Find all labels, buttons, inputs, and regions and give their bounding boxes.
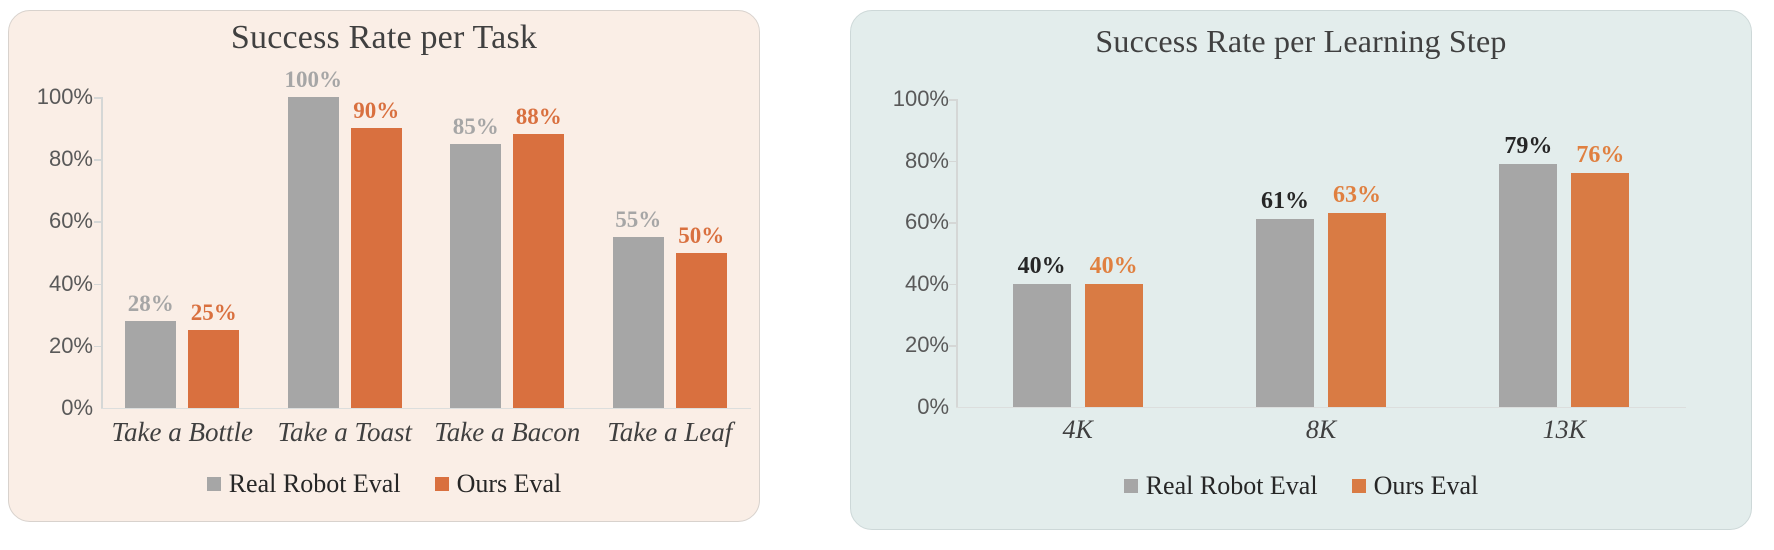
legend-label: Real Robot Eval: [229, 469, 401, 499]
y-axis-tick: [94, 159, 101, 161]
plot-area: 28%25%100%90%85%88%55%50%: [101, 97, 751, 408]
x-axis-category-label: Take a Bacon: [426, 417, 589, 448]
bar-value-label: 28%: [128, 291, 174, 317]
bar-ours-eval[interactable]: [513, 134, 564, 408]
legend: Real Robot EvalOurs Eval: [9, 469, 759, 499]
bar-group: 100%90%: [264, 97, 427, 408]
bar-value-label: 100%: [285, 67, 343, 93]
x-axis-category-label: 8K: [1199, 415, 1442, 445]
bar-column: 85%: [450, 97, 501, 408]
bar-value-label: 85%: [453, 114, 499, 140]
y-axis-tick: [94, 97, 101, 99]
bar-column: 28%: [125, 97, 176, 408]
bar-real-robot-eval[interactable]: [1013, 284, 1071, 407]
bar-column: 100%: [288, 97, 339, 408]
y-axis-tick-label: 20%: [905, 332, 949, 358]
y-axis-tick-label: 0%: [917, 394, 949, 420]
bar-value-label: 40%: [1018, 253, 1066, 280]
x-axis-category-label: Take a Leaf: [589, 417, 752, 448]
bar-ours-eval[interactable]: [1571, 173, 1629, 407]
chart-title: Success Rate per Task: [9, 19, 759, 57]
y-axis-labels: 0%20%40%60%80%100%: [21, 97, 93, 408]
x-axis-category-label: Take a Toast: [264, 417, 427, 448]
bar-column: 88%: [513, 97, 564, 408]
bar-value-label: 90%: [353, 98, 399, 124]
legend-label: Ours Eval: [1374, 471, 1479, 501]
bar-real-robot-eval[interactable]: [288, 97, 339, 408]
y-axis-tick-label: 100%: [37, 84, 93, 110]
y-axis-tick: [94, 346, 101, 348]
chart-panel-success-rate-per-task: Success Rate per Task 0%20%40%60%80%100%…: [8, 10, 760, 522]
bar-value-label: 79%: [1504, 133, 1552, 160]
y-axis-tick: [94, 284, 101, 286]
x-axis-labels: 4K8K13K: [956, 415, 1686, 445]
bar-group: 55%50%: [589, 97, 752, 408]
bar-value-label: 40%: [1090, 253, 1138, 280]
plot-area: 40%40%61%63%79%76%: [956, 99, 1686, 407]
y-axis-tick: [949, 345, 956, 347]
x-axis-category-label: Take a Bottle: [101, 417, 264, 448]
bar-column: 61%: [1256, 99, 1314, 407]
bar-column: 50%: [676, 97, 727, 408]
bar-value-label: 63%: [1333, 182, 1381, 209]
bar-column: 63%: [1328, 99, 1386, 407]
y-axis-tick: [949, 99, 956, 101]
bar-value-label: 88%: [516, 104, 562, 130]
bar-value-label: 25%: [191, 300, 237, 326]
bar-real-robot-eval[interactable]: [125, 321, 176, 408]
bar-value-label: 76%: [1576, 142, 1624, 169]
y-axis-tick-label: 60%: [49, 208, 93, 234]
legend: Real Robot EvalOurs Eval: [851, 471, 1751, 501]
legend-label: Real Robot Eval: [1146, 471, 1318, 501]
bar-ours-eval[interactable]: [1085, 284, 1143, 407]
bar-ours-eval[interactable]: [351, 128, 402, 408]
y-axis-labels: 0%20%40%60%80%100%: [873, 99, 949, 407]
bar-group: 79%76%: [1443, 99, 1686, 407]
x-axis-category-label: 13K: [1443, 415, 1686, 445]
y-axis-tick-label: 20%: [49, 333, 93, 359]
legend-label: Ours Eval: [457, 469, 562, 499]
legend-item[interactable]: Real Robot Eval: [1124, 471, 1318, 501]
bar-real-robot-eval[interactable]: [613, 237, 664, 408]
y-axis-tick: [949, 161, 956, 163]
bar-column: 55%: [613, 97, 664, 408]
legend-item[interactable]: Ours Eval: [1352, 471, 1479, 501]
legend-swatch-icon: [1352, 479, 1366, 493]
legend-swatch-icon: [207, 477, 221, 491]
y-axis-tick: [94, 221, 101, 223]
chart-panel-success-rate-per-learning-step: Success Rate per Learning Step 0%20%40%6…: [850, 10, 1752, 530]
y-axis-tick-label: 60%: [905, 209, 949, 235]
bar-column: 40%: [1013, 99, 1071, 407]
bar-ours-eval[interactable]: [1328, 213, 1386, 407]
bar-real-robot-eval[interactable]: [1256, 219, 1314, 407]
bar-groups: 40%40%61%63%79%76%: [956, 99, 1686, 407]
y-axis-tick-label: 40%: [49, 271, 93, 297]
bar-real-robot-eval[interactable]: [1499, 164, 1557, 407]
bar-real-robot-eval[interactable]: [450, 144, 501, 408]
bar-ours-eval[interactable]: [188, 330, 239, 408]
legend-swatch-icon: [435, 477, 449, 491]
y-axis-tick-label: 80%: [905, 148, 949, 174]
bar-value-label: 61%: [1261, 188, 1309, 215]
legend-swatch-icon: [1124, 479, 1138, 493]
y-axis-tick-label: 40%: [905, 271, 949, 297]
bar-group: 61%63%: [1199, 99, 1442, 407]
legend-item[interactable]: Ours Eval: [435, 469, 562, 499]
bar-groups: 28%25%100%90%85%88%55%50%: [101, 97, 751, 408]
bar-group: 28%25%: [101, 97, 264, 408]
y-axis-tick: [949, 284, 956, 286]
chart-title: Success Rate per Learning Step: [851, 23, 1751, 60]
bar-group: 85%88%: [426, 97, 589, 408]
bar-column: 90%: [351, 97, 402, 408]
bar-column: 25%: [188, 97, 239, 408]
legend-item[interactable]: Real Robot Eval: [207, 469, 401, 499]
x-axis-labels: Take a BottleTake a ToastTake a BaconTak…: [101, 417, 751, 448]
y-axis-tick-label: 0%: [61, 395, 93, 421]
x-axis-category-label: 4K: [956, 415, 1199, 445]
y-axis-tick-label: 80%: [49, 146, 93, 172]
y-axis-tick: [949, 222, 956, 224]
bar-value-label: 50%: [678, 223, 724, 249]
bar-column: 76%: [1571, 99, 1629, 407]
bar-column: 40%: [1085, 99, 1143, 407]
bar-group: 40%40%: [956, 99, 1199, 407]
bar-ours-eval[interactable]: [676, 253, 727, 409]
y-axis-tick-label: 100%: [893, 86, 949, 112]
bar-column: 79%: [1499, 99, 1557, 407]
figure-root: Success Rate per Task 0%20%40%60%80%100%…: [0, 0, 1774, 550]
bar-value-label: 55%: [615, 207, 661, 233]
